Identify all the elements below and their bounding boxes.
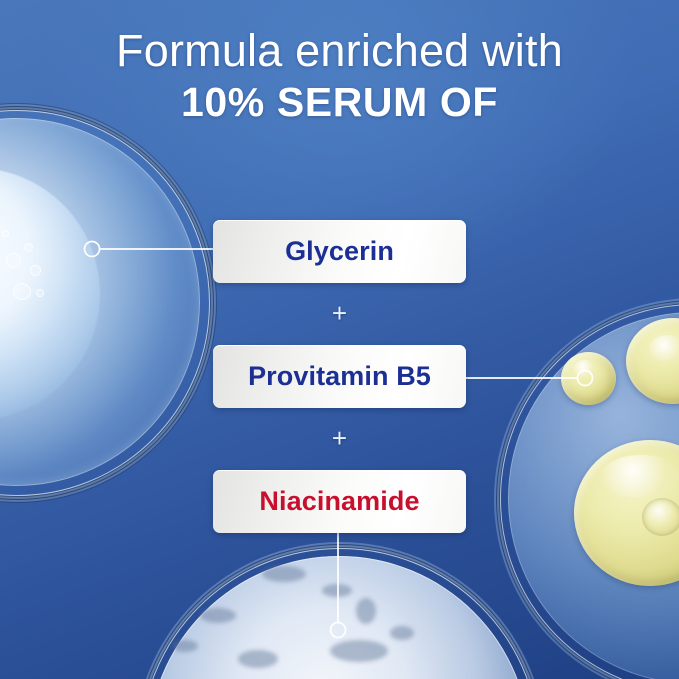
ingredient-label-provitamin-b5: Provitamin B5 xyxy=(248,361,431,392)
ingredient-card-provitamin-b5[interactable]: Provitamin B5 xyxy=(213,345,466,408)
ingredient-card-niacinamide[interactable]: Niacinamide xyxy=(213,470,466,533)
ingredient-card-glycerin[interactable]: Glycerin xyxy=(213,220,466,283)
powder-speck xyxy=(322,584,352,597)
gel-bubble-icon xyxy=(24,243,33,252)
gel-bubble-icon xyxy=(13,283,31,300)
headline-line-1: Formula enriched with xyxy=(0,24,679,78)
powder-speck xyxy=(330,640,388,662)
ingredient-label-niacinamide: Niacinamide xyxy=(259,486,419,517)
powder-speck xyxy=(238,650,278,668)
serum-drop-small-icon xyxy=(561,352,616,405)
gel-bubble-icon xyxy=(30,265,41,276)
gel-bubble-icon xyxy=(36,289,44,297)
powder-speck xyxy=(172,640,198,652)
plus-separator-1: + xyxy=(0,300,679,326)
powder-speck xyxy=(356,598,376,624)
plus-separator-2: + xyxy=(0,425,679,451)
page-title: Formula enriched with 10% SERUM OF xyxy=(0,24,679,126)
ingredient-label-glycerin: Glycerin xyxy=(285,236,394,267)
promo-image-canvas: Formula enriched with 10% SERUM OF Glyce… xyxy=(0,0,679,679)
headline-line-2: 10% SERUM OF xyxy=(0,78,679,126)
powder-speck xyxy=(262,566,306,582)
powder-speck xyxy=(200,608,236,623)
gel-bubble-icon xyxy=(2,230,9,237)
powder-speck xyxy=(390,626,414,640)
gel-bubble-icon xyxy=(6,253,21,268)
